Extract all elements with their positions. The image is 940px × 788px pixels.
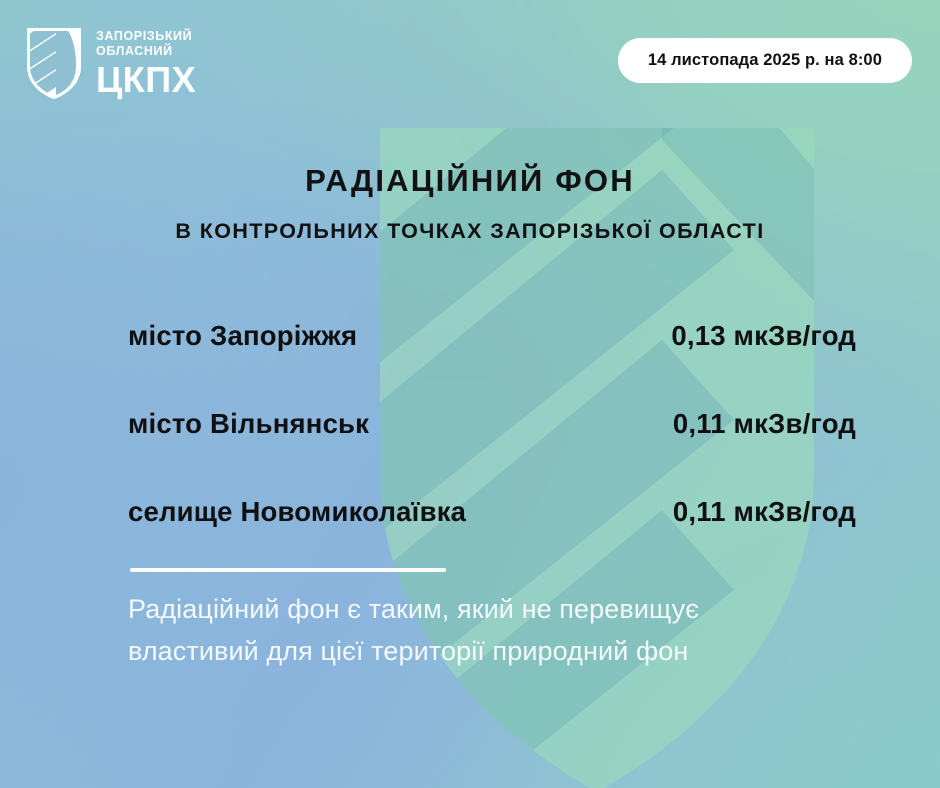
logo-line-2: ОБЛАСНИЙ [96, 44, 196, 59]
location-label: місто Запоріжжя [128, 320, 357, 352]
dose-rate-value: 0,11 мкЗв/год [673, 496, 856, 528]
dose-rate-value: 0,13 мкЗв/год [671, 320, 856, 352]
shield-logo-icon [24, 26, 84, 100]
measurement-row: місто Вільнянськ 0,11 мкЗв/год [128, 408, 856, 496]
title-block: РАДІАЦІЙНИЙ ФОН В КОНТРОЛЬНИХ ТОЧКАХ ЗАП… [0, 162, 940, 246]
footer-line-1: Радіаційний фон є таким, який не перевищ… [128, 588, 880, 630]
logo-text: ЗАПОРІЗЬКИЙ ОБЛАСНИЙ ЦКПХ [96, 27, 196, 99]
dose-rate-value: 0,11 мкЗв/год [673, 408, 856, 440]
footer-line-2: властивий для цієї території природний ф… [128, 630, 880, 672]
measurement-list: місто Запоріжжя 0,13 мкЗв/год місто Віль… [128, 320, 856, 584]
location-label: селище Новомиколаївка [128, 496, 466, 528]
measurement-row: місто Запоріжжя 0,13 мкЗв/год [128, 320, 856, 408]
location-label: місто Вільнянськ [128, 408, 369, 440]
divider [130, 568, 446, 572]
date-badge: 14 листопада 2025 р. на 8:00 [618, 38, 912, 83]
page-title: РАДІАЦІЙНИЙ ФОН [0, 162, 940, 200]
logo: ЗАПОРІЗЬКИЙ ОБЛАСНИЙ ЦКПХ [24, 26, 196, 100]
page-subtitle: В КОНТРОЛЬНИХ ТОЧКАХ ЗАПОРІЗЬКОЇ ОБЛАСТІ [0, 216, 940, 246]
logo-line-1: ЗАПОРІЗЬКИЙ [96, 29, 196, 44]
header: ЗАПОРІЗЬКИЙ ОБЛАСНИЙ ЦКПХ 14 листопада 2… [0, 0, 940, 130]
logo-abbreviation: ЦКПХ [96, 61, 196, 99]
footer-note: Радіаційний фон є таким, який не перевищ… [128, 588, 880, 672]
radiation-background-infographic: ЗАПОРІЗЬКИЙ ОБЛАСНИЙ ЦКПХ 14 листопада 2… [0, 0, 940, 788]
